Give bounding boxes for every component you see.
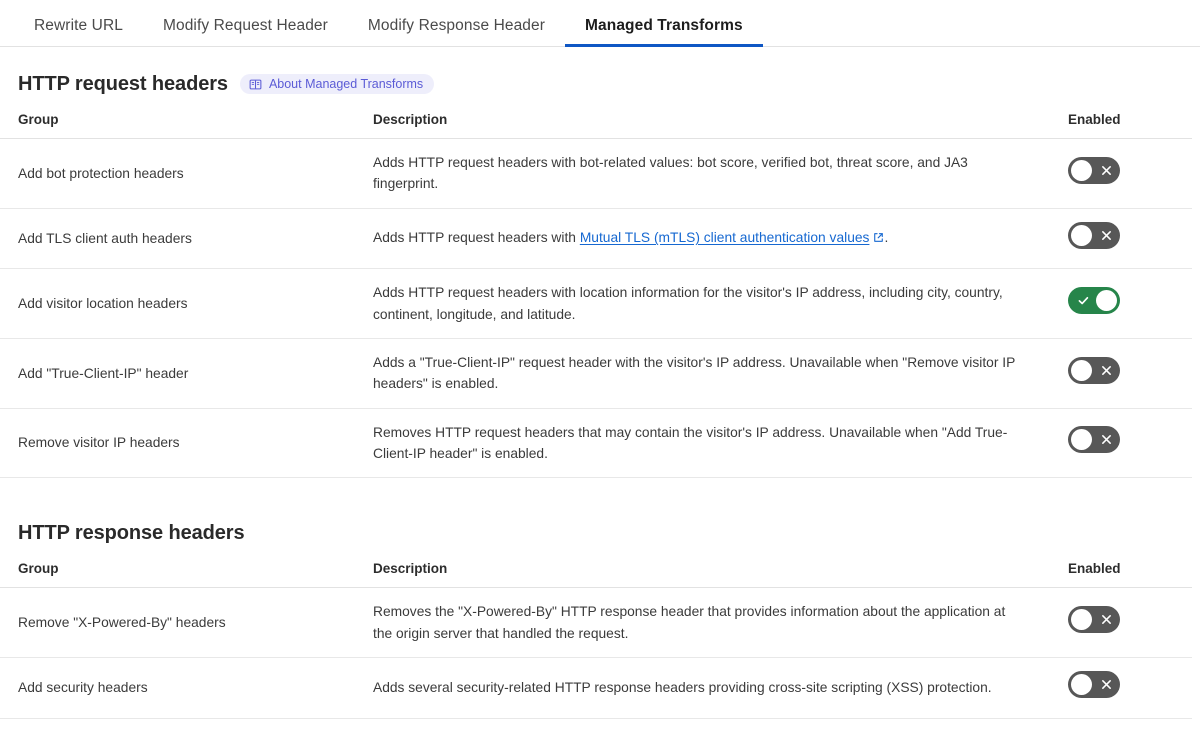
tab-modify-request-header[interactable]: Modify Request Header: [143, 18, 348, 47]
table-header-row: Group Description Enabled: [0, 561, 1192, 588]
table-row: Remove visitor IP headers Removes HTTP r…: [0, 408, 1192, 478]
toggle-remove-x-powered-by-headers[interactable]: [1068, 606, 1120, 633]
section-title-request: HTTP request headers: [18, 73, 228, 96]
row-group-label: Add TLS client auth headers: [0, 208, 373, 268]
close-icon: [1101, 157, 1112, 184]
row-description: Adds HTTP request headers with Mutual TL…: [373, 208, 1068, 268]
description-text-before: Adds HTTP request headers with: [373, 230, 580, 245]
column-header-enabled: Enabled: [1068, 112, 1192, 139]
table-row: Remove "X-Powered-By" headers Removes th…: [0, 588, 1192, 658]
row-description: Adds HTTP request headers with bot-relat…: [373, 139, 1068, 209]
close-icon: [1101, 357, 1112, 384]
close-icon: [1101, 222, 1112, 249]
row-enabled-cell: [1068, 658, 1192, 718]
response-headers-table: Group Description Enabled Remove "X-Powe…: [0, 561, 1192, 718]
toggle-remove-visitor-ip-headers[interactable]: [1068, 426, 1120, 453]
toggle-knob: [1071, 674, 1092, 695]
row-enabled-cell: [1068, 338, 1192, 408]
section-header-response: HTTP response headers: [0, 518, 1200, 548]
row-description: Adds a "True-Client-IP" request header w…: [373, 338, 1068, 408]
section-http-request-headers: HTTP request headers About Managed Trans…: [0, 69, 1200, 478]
toggle-add-bot-protection-headers[interactable]: [1068, 157, 1120, 184]
tab-bar: Rewrite URL Modify Request Header Modify…: [0, 0, 1200, 47]
toggle-add-true-client-ip-header[interactable]: [1068, 357, 1120, 384]
close-icon: [1101, 671, 1112, 698]
toggle-add-visitor-location-headers[interactable]: [1068, 287, 1120, 314]
toggle-add-tls-client-auth-headers[interactable]: [1068, 222, 1120, 249]
toggle-knob: [1071, 360, 1092, 381]
row-group-label: Remove "X-Powered-By" headers: [0, 588, 373, 658]
column-header-description: Description: [373, 561, 1068, 588]
close-icon: [1101, 606, 1112, 633]
section-header-request: HTTP request headers About Managed Trans…: [0, 69, 1200, 99]
toggle-knob: [1071, 160, 1092, 181]
row-group-label: Add "True-Client-IP" header: [0, 338, 373, 408]
row-description: Adds HTTP request headers with location …: [373, 269, 1068, 339]
row-enabled-cell: [1068, 139, 1192, 209]
row-group-label: Add security headers: [0, 658, 373, 718]
row-description: Removes HTTP request headers that may co…: [373, 408, 1068, 478]
row-enabled-cell: [1068, 408, 1192, 478]
section-http-response-headers: HTTP response headers Group Description …: [0, 518, 1200, 718]
spacer-response-title: [0, 548, 1200, 561]
spacer-request-title: [0, 99, 1200, 112]
section-title-response: HTTP response headers: [18, 522, 245, 545]
section-spacer: [0, 478, 1200, 518]
row-enabled-cell: [1068, 588, 1192, 658]
toggle-knob: [1071, 609, 1092, 630]
book-icon: [249, 78, 262, 91]
about-managed-transforms-label: About Managed Transforms: [269, 77, 423, 91]
tab-rewrite-url[interactable]: Rewrite URL: [14, 18, 143, 47]
mtls-docs-link[interactable]: Mutual TLS (mTLS) client authentication …: [580, 230, 870, 245]
spacer-top: [0, 47, 1200, 69]
row-enabled-cell: [1068, 269, 1192, 339]
row-group-label: Add visitor location headers: [0, 269, 373, 339]
managed-transforms-page: Rewrite URL Modify Request Header Modify…: [0, 0, 1200, 742]
table-row: Add TLS client auth headers Adds HTTP re…: [0, 208, 1192, 268]
column-header-group: Group: [0, 112, 373, 139]
toggle-knob: [1071, 225, 1092, 246]
table-row: Add bot protection headers Adds HTTP req…: [0, 139, 1192, 209]
request-headers-table: Group Description Enabled Add bot protec…: [0, 112, 1192, 478]
toggle-add-security-headers[interactable]: [1068, 671, 1120, 698]
row-description: Removes the "X-Powered-By" HTTP response…: [373, 588, 1068, 658]
row-description: Adds several security-related HTTP respo…: [373, 658, 1068, 718]
table-row: Add "True-Client-IP" header Adds a "True…: [0, 338, 1192, 408]
tab-modify-response-header[interactable]: Modify Response Header: [348, 18, 565, 47]
tab-managed-transforms[interactable]: Managed Transforms: [565, 18, 763, 47]
column-header-description: Description: [373, 112, 1068, 139]
row-group-label: Add bot protection headers: [0, 139, 373, 209]
table-row: Add security headers Adds several securi…: [0, 658, 1192, 718]
close-icon: [1101, 426, 1112, 453]
toggle-knob: [1071, 429, 1092, 450]
column-header-group: Group: [0, 561, 373, 588]
description-text-after: .: [884, 230, 888, 245]
table-row: Add visitor location headers Adds HTTP r…: [0, 269, 1192, 339]
toggle-knob: [1096, 290, 1117, 311]
table-header-row: Group Description Enabled: [0, 112, 1192, 139]
row-enabled-cell: [1068, 208, 1192, 268]
about-managed-transforms-badge[interactable]: About Managed Transforms: [240, 74, 434, 94]
row-group-label: Remove visitor IP headers: [0, 408, 373, 478]
external-link-icon[interactable]: [873, 228, 884, 249]
column-header-enabled: Enabled: [1068, 561, 1192, 588]
check-icon: [1077, 287, 1090, 314]
